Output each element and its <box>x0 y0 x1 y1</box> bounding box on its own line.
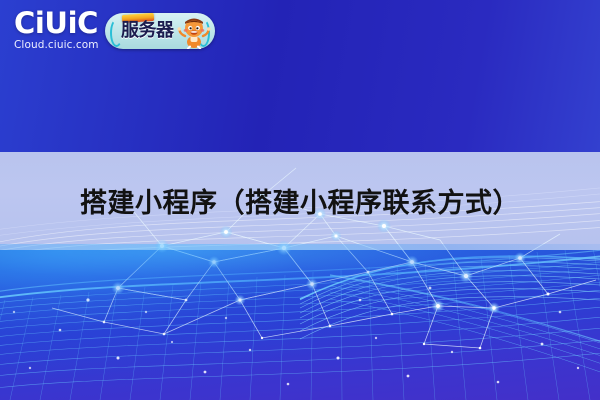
orange-cartoon-mascot-icon <box>177 15 211 49</box>
server-badge[interactable]: 服务器 <box>105 13 215 49</box>
background-band-bottom <box>0 250 600 400</box>
ciuic-logo[interactable]: CiUiC Cloud.ciuic.com <box>14 8 110 58</box>
logo-wordmark: CiUiC <box>14 8 110 38</box>
logo-domain: Cloud.ciuic.com <box>14 39 110 51</box>
server-badge-label: 服务器 <box>121 21 174 40</box>
promo-banner: CiUiC Cloud.ciuic.com 服务器 <box>0 0 600 400</box>
page-title: 搭建小程序（搭建小程序联系方式） <box>0 184 600 224</box>
